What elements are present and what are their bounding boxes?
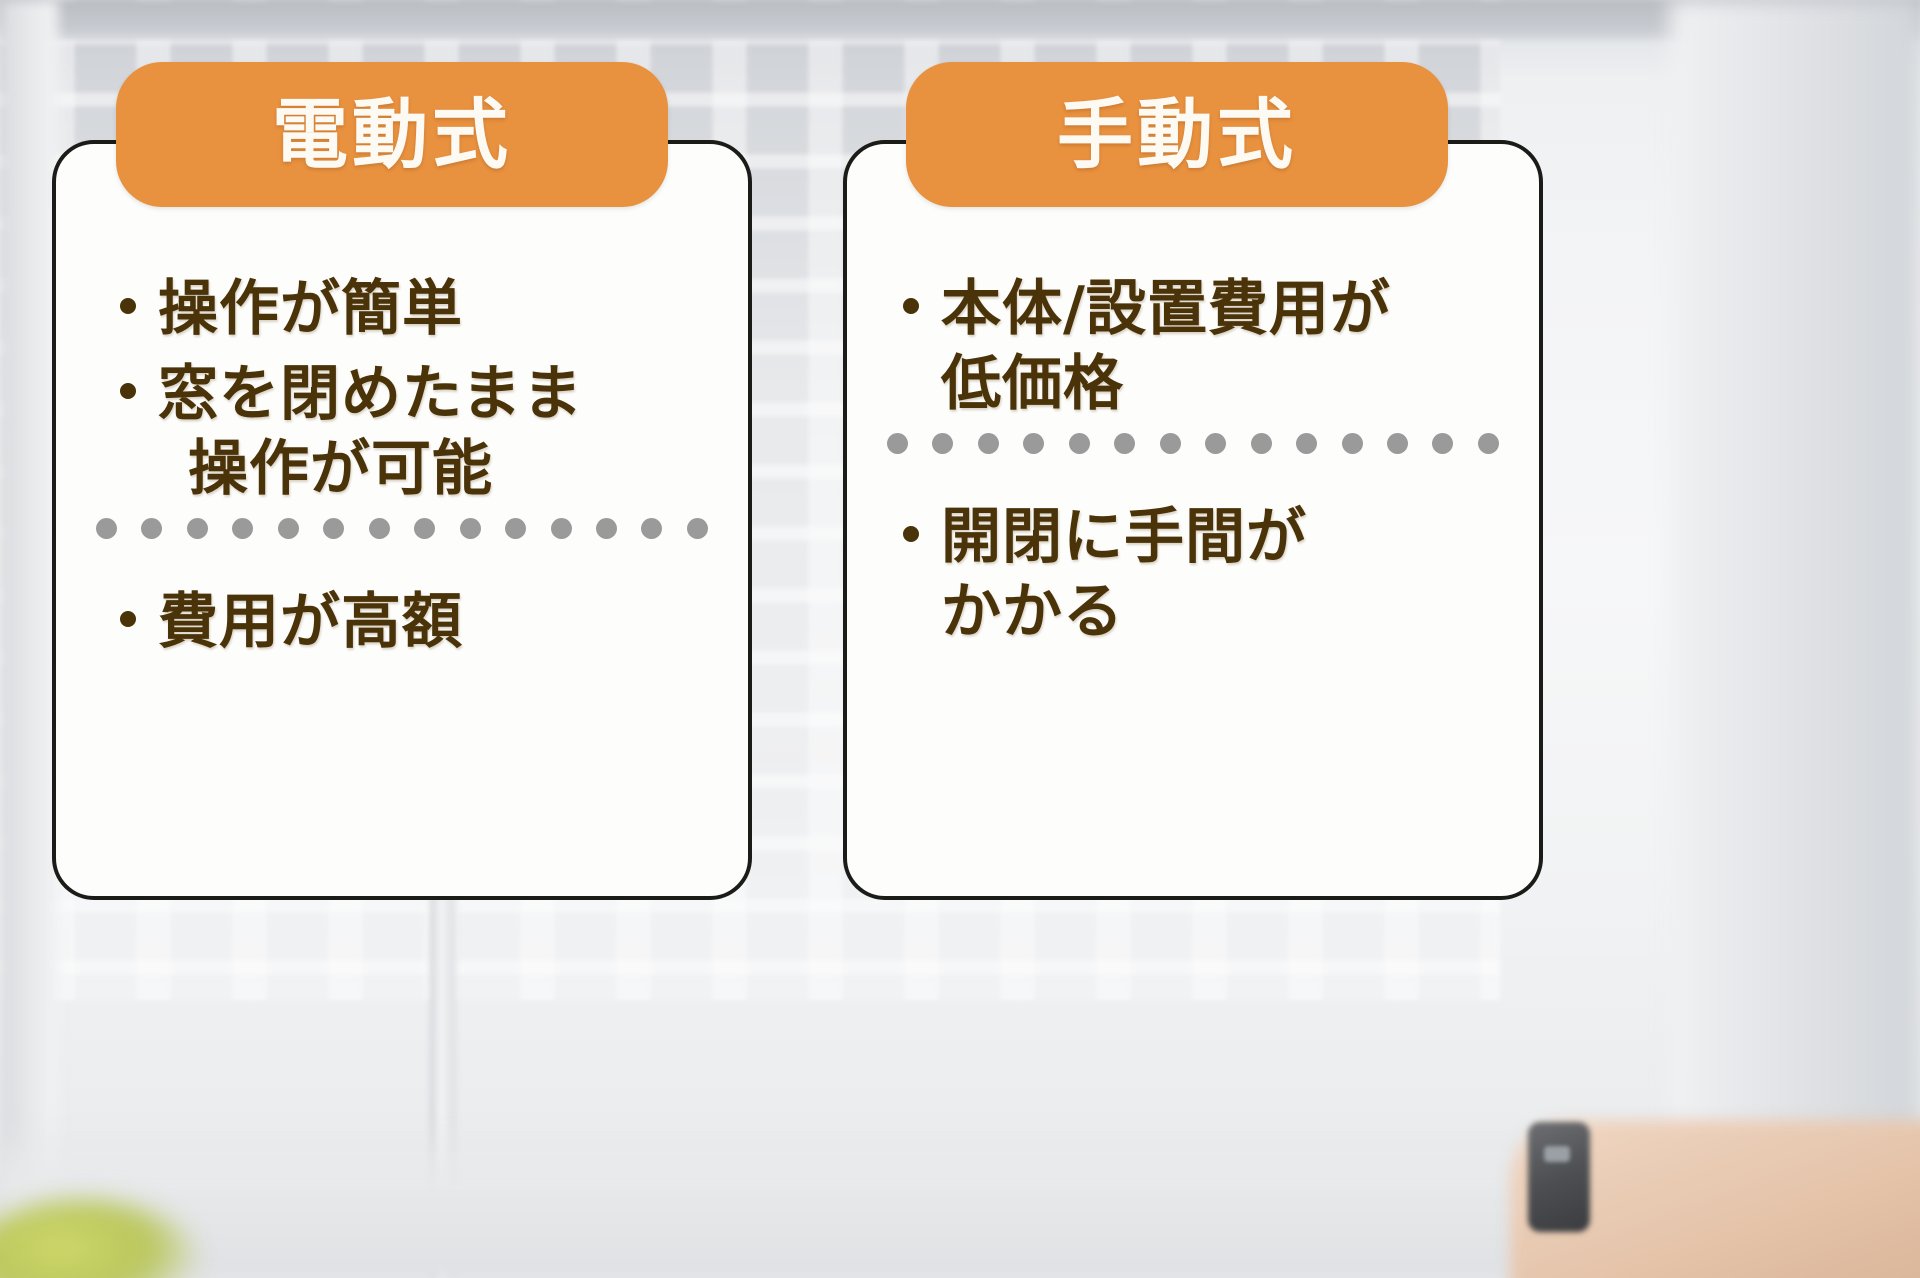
divider-dot	[414, 518, 435, 539]
dotted-divider-manual	[887, 432, 1499, 454]
list-item: 開閉に手間が かかる	[873, 500, 1513, 650]
window-left-frame	[0, 0, 58, 1278]
divider-dot	[932, 433, 953, 454]
card-title-manual: 手動式	[1057, 97, 1297, 173]
divider-dot	[1432, 433, 1453, 454]
list-item-label: 本体/設置費用が 低価格	[941, 272, 1391, 422]
list-item-line: かかる	[941, 575, 1307, 650]
list-item-line: 操作が可能	[158, 432, 583, 507]
window-right-frame	[1670, 0, 1920, 1278]
divider-dot	[1478, 433, 1499, 454]
list-item-line: 低価格	[941, 347, 1391, 422]
pros-section-manual: 本体/設置費用が 低価格	[873, 248, 1513, 432]
bullet-dot-icon	[903, 526, 919, 542]
divider-dot	[687, 518, 708, 539]
divider-dot	[1205, 433, 1226, 454]
cons-section-manual: 開閉に手間が かかる	[873, 454, 1513, 660]
comparison-card-electric: 操作が簡単 窓を閉めたまま 操作が可能	[52, 140, 752, 900]
comparison-card-manual: 本体/設置費用が 低価格	[843, 140, 1543, 900]
divider-dot	[887, 433, 908, 454]
bullet-dot-icon	[120, 298, 136, 314]
bullet-dot-icon	[120, 611, 136, 627]
divider-dot	[1387, 433, 1408, 454]
remote-control-icon	[1528, 1122, 1590, 1232]
divider-dot	[1023, 433, 1044, 454]
divider-dot	[1342, 433, 1363, 454]
divider-dot	[232, 518, 253, 539]
list-item: 操作が簡単	[82, 272, 722, 347]
divider-dot	[1069, 433, 1090, 454]
card-body-manual: 本体/設置費用が 低価格	[847, 144, 1539, 896]
cons-section-electric: 費用が高額	[82, 539, 722, 670]
divider-dot	[323, 518, 344, 539]
list-item-line: 開閉に手間が	[941, 500, 1307, 575]
list-item: 費用が高額	[82, 585, 722, 660]
dotted-divider-electric	[96, 517, 708, 539]
list-item-label: 窓を閉めたまま 操作が可能	[158, 357, 583, 507]
divider-dot	[978, 433, 999, 454]
remote-button	[1544, 1146, 1570, 1162]
list-item-label: 操作が簡単	[158, 272, 463, 347]
pros-section-electric: 操作が簡単 窓を閉めたまま 操作が可能	[82, 248, 722, 517]
divider-dot	[551, 518, 572, 539]
list-item-line: 本体/設置費用が	[941, 272, 1391, 347]
list-item: 窓を閉めたまま 操作が可能	[82, 357, 722, 507]
window-top-frame	[0, 0, 1920, 40]
divider-dot	[1160, 433, 1181, 454]
list-item-line: 費用が高額	[158, 585, 463, 660]
list-item-line: 窓を閉めたまま	[158, 357, 583, 432]
list-item: 本体/設置費用が 低価格	[873, 272, 1513, 422]
divider-dot	[96, 518, 117, 539]
divider-dot	[1114, 433, 1135, 454]
divider-dot	[187, 518, 208, 539]
divider-dot	[141, 518, 162, 539]
bullet-dot-icon	[903, 298, 919, 314]
infographic-root: 操作が簡単 窓を閉めたまま 操作が可能	[0, 0, 1920, 1278]
divider-dot	[596, 518, 617, 539]
card-header-pill-electric: 電動式	[116, 62, 668, 207]
card-header-pill-manual: 手動式	[906, 62, 1448, 207]
divider-dot	[641, 518, 662, 539]
list-item-label: 開閉に手間が かかる	[941, 500, 1307, 650]
divider-dot	[460, 518, 481, 539]
list-item-label: 費用が高額	[158, 585, 463, 660]
list-item-line: 操作が簡単	[158, 272, 463, 347]
divider-dot	[369, 518, 390, 539]
divider-dot	[278, 518, 299, 539]
card-body-electric: 操作が簡単 窓を閉めたまま 操作が可能	[56, 144, 748, 896]
divider-dot	[1251, 433, 1272, 454]
card-title-electric: 電動式	[272, 97, 512, 173]
divider-dot	[1296, 433, 1317, 454]
divider-dot	[505, 518, 526, 539]
bullet-dot-icon	[120, 383, 136, 399]
